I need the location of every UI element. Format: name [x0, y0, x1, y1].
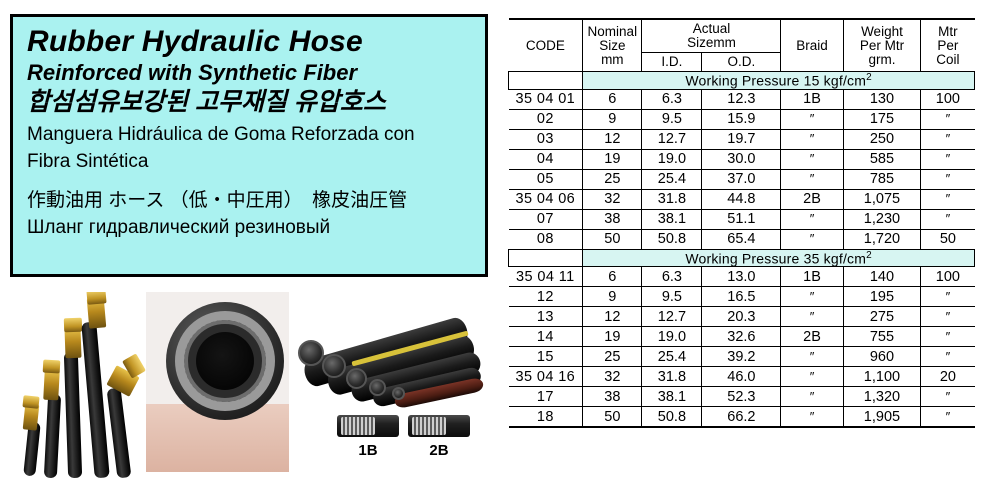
cell-inner-diameter: 12.7 [642, 129, 702, 149]
table-row: 35 04 0166.312.31B130100 [509, 89, 975, 109]
header-nominal-size: Nominal Size mm [583, 19, 642, 72]
cell-inner-diameter: 9.5 [642, 287, 702, 307]
table-row: 073838.151.1″1,230″ [509, 209, 975, 229]
cell-outer-diameter: 37.0 [702, 169, 781, 189]
table-row: 185050.866.2″1,905″ [509, 407, 975, 428]
cell-braid: ″ [781, 367, 843, 387]
cell-code: 12 [509, 287, 583, 307]
cell-mtr-per-coil: ″ [921, 109, 975, 129]
cell-inner-diameter: 38.1 [642, 209, 702, 229]
header-actual-size-line2: Sizemm [687, 35, 736, 50]
table-row: 152525.439.2″960″ [509, 347, 975, 367]
cell-braid: ″ [781, 149, 843, 169]
cell-nominal-size: 50 [583, 407, 642, 428]
cell-braid: 2B [781, 327, 843, 347]
photo-hose-ends [296, 290, 486, 408]
cell-braid: ″ [781, 287, 843, 307]
cell-nominal-size: 38 [583, 209, 642, 229]
header-braid: Braid [781, 19, 843, 72]
header-actual-size: Actual Sizemm [642, 19, 781, 53]
cell-inner-diameter: 6.3 [642, 89, 702, 109]
cell-nominal-size: 6 [583, 267, 642, 287]
title-spanish-line-2: Fibra Sintética [27, 148, 485, 175]
cell-outer-diameter: 65.4 [702, 229, 781, 249]
cell-braid: ″ [781, 347, 843, 367]
cell-code: 14 [509, 327, 583, 347]
header-actual-size-line1: Actual [693, 21, 731, 36]
cell-outer-diameter: 13.0 [702, 267, 781, 287]
banner-spacer [509, 249, 583, 267]
header-inner-diameter: I.D. [642, 53, 702, 72]
cell-mtr-per-coil: ″ [921, 327, 975, 347]
cell-inner-diameter: 25.4 [642, 169, 702, 189]
cell-mtr-per-coil: ″ [921, 129, 975, 149]
table-row: 0299.515.9″175″ [509, 109, 975, 129]
braid-sample-1b [337, 415, 399, 437]
cell-outer-diameter: 66.2 [702, 407, 781, 428]
table-row: 173838.152.3″1,320″ [509, 387, 975, 407]
cell-braid: ″ [781, 407, 843, 428]
cell-weight: 960 [843, 347, 921, 367]
cell-code: 35 04 16 [509, 367, 583, 387]
table-row: 1299.516.5″195″ [509, 287, 975, 307]
pressure-banner-row: Working Pressure 35 kgf/cm2 [509, 249, 975, 267]
braid-sample-1b-ferrule [341, 417, 375, 435]
product-title-panel: Rubber Hydraulic Hose Reinforced with Sy… [10, 14, 488, 277]
cell-inner-diameter: 19.0 [642, 149, 702, 169]
cell-nominal-size: 9 [583, 109, 642, 129]
pressure-banner-row: Working Pressure 15 kgf/cm2 [509, 72, 975, 90]
cell-outer-diameter: 12.3 [702, 89, 781, 109]
header-nominal-size-line2: Size [599, 38, 625, 53]
cell-mtr-per-coil: ″ [921, 209, 975, 229]
table-row: 131212.720.3″275″ [509, 307, 975, 327]
table-body: Working Pressure 15 kgf/cm235 04 0166.31… [509, 72, 975, 428]
cell-mtr-per-coil: ″ [921, 189, 975, 209]
cell-mtr-per-coil: 20 [921, 367, 975, 387]
cell-inner-diameter: 25.4 [642, 347, 702, 367]
table-row: 35 04 163231.846.0″1,10020 [509, 367, 975, 387]
header-coil-line3: Coil [936, 52, 959, 67]
cell-code: 15 [509, 347, 583, 367]
cell-outer-diameter: 20.3 [702, 307, 781, 327]
cell-nominal-size: 12 [583, 307, 642, 327]
cell-outer-diameter: 30.0 [702, 149, 781, 169]
cell-outer-diameter: 32.6 [702, 327, 781, 347]
cell-inner-diameter: 50.8 [642, 229, 702, 249]
cell-code: 04 [509, 149, 583, 169]
specification-table: CODE Nominal Size mm Actual Sizemm Braid… [508, 18, 975, 428]
cell-weight: 1,320 [843, 387, 921, 407]
cell-inner-diameter: 31.8 [642, 189, 702, 209]
table-row: 141919.032.62B755″ [509, 327, 975, 347]
cell-mtr-per-coil: ″ [921, 347, 975, 367]
cell-nominal-size: 32 [583, 189, 642, 209]
cell-outer-diameter: 51.1 [702, 209, 781, 229]
braid-sample-2b [408, 415, 470, 437]
cell-weight: 1,075 [843, 189, 921, 209]
page-subtitle: Reinforced with Synthetic Fiber [27, 60, 485, 86]
cell-outer-diameter: 39.2 [702, 347, 781, 367]
cell-code: 02 [509, 109, 583, 129]
cell-weight: 1,720 [843, 229, 921, 249]
cell-braid: ″ [781, 129, 843, 149]
table-row: 031212.719.7″250″ [509, 129, 975, 149]
cell-nominal-size: 38 [583, 387, 642, 407]
cell-braid: 1B [781, 267, 843, 287]
header-outer-diameter: O.D. [702, 53, 781, 72]
cell-braid: 1B [781, 89, 843, 109]
cell-outer-diameter: 46.0 [702, 367, 781, 387]
cell-inner-diameter: 9.5 [642, 109, 702, 129]
header-nominal-size-line1: Nominal [588, 24, 638, 39]
cell-braid: ″ [781, 387, 843, 407]
photo-hose-cross-section [146, 292, 289, 472]
pressure-banner-label: Working Pressure 35 kgf/cm2 [583, 249, 975, 267]
cell-mtr-per-coil: ″ [921, 149, 975, 169]
cell-weight: 755 [843, 327, 921, 347]
cell-mtr-per-coil: 100 [921, 89, 975, 109]
cell-code: 35 04 01 [509, 89, 583, 109]
cell-inner-diameter: 6.3 [642, 267, 702, 287]
braid-sample-1b-label: 1B [346, 442, 390, 459]
cell-outer-diameter: 15.9 [702, 109, 781, 129]
cell-braid: ″ [781, 307, 843, 327]
header-weight: Weight Per Mtr grm. [843, 19, 921, 72]
cell-nominal-size: 25 [583, 169, 642, 189]
cell-weight: 585 [843, 149, 921, 169]
cell-mtr-per-coil: 50 [921, 229, 975, 249]
header-coil-line2: Per [937, 38, 958, 53]
cell-nominal-size: 19 [583, 327, 642, 347]
header-code: CODE [509, 19, 583, 72]
cell-mtr-per-coil: ″ [921, 169, 975, 189]
cell-outer-diameter: 16.5 [702, 287, 781, 307]
cell-nominal-size: 12 [583, 129, 642, 149]
cell-mtr-per-coil: ″ [921, 287, 975, 307]
cell-weight: 175 [843, 109, 921, 129]
cell-braid: 2B [781, 189, 843, 209]
cell-weight: 195 [843, 287, 921, 307]
cell-mtr-per-coil: ″ [921, 307, 975, 327]
table-row: 052525.437.0″785″ [509, 169, 975, 189]
title-spanish-line-1: Manguera Hidráulica de Goma Reforzada co… [27, 121, 485, 148]
header-weight-line3: grm. [868, 52, 895, 67]
cell-inner-diameter: 12.7 [642, 307, 702, 327]
cell-nominal-size: 25 [583, 347, 642, 367]
cell-weight: 130 [843, 89, 921, 109]
cell-outer-diameter: 44.8 [702, 189, 781, 209]
cell-weight: 1,230 [843, 209, 921, 229]
cell-code: 35 04 06 [509, 189, 583, 209]
banner-spacer [509, 72, 583, 90]
pressure-banner-label: Working Pressure 15 kgf/cm2 [583, 72, 975, 90]
cell-code: 05 [509, 169, 583, 189]
braid-sample-2b-ferrule [412, 417, 446, 435]
cell-weight: 1,100 [843, 367, 921, 387]
header-weight-line1: Weight [861, 24, 903, 39]
table-row: 35 04 063231.844.82B1,075″ [509, 189, 975, 209]
header-weight-line2: Per Mtr [860, 38, 904, 53]
cell-inner-diameter: 50.8 [642, 407, 702, 428]
cell-braid: ″ [781, 209, 843, 229]
cell-weight: 785 [843, 169, 921, 189]
cell-nominal-size: 6 [583, 89, 642, 109]
cell-braid: ″ [781, 109, 843, 129]
title-korean: 합섬섬유보강된 고무재질 유압호스 [27, 87, 485, 117]
table-row: 085050.865.4″1,72050 [509, 229, 975, 249]
photo-hose-assemblies [8, 292, 146, 478]
cell-braid: ″ [781, 169, 843, 189]
cell-inner-diameter: 38.1 [642, 387, 702, 407]
header-coil-line1: Mtr [938, 24, 958, 39]
cell-nominal-size: 50 [583, 229, 642, 249]
page-title: Rubber Hydraulic Hose [27, 25, 485, 59]
cell-weight: 140 [843, 267, 921, 287]
hose-bore [196, 332, 254, 390]
cell-weight: 250 [843, 129, 921, 149]
cell-nominal-size: 32 [583, 367, 642, 387]
cell-code: 18 [509, 407, 583, 428]
cell-mtr-per-coil: ″ [921, 387, 975, 407]
title-russian: Шланг гидравлический резиновый [27, 215, 485, 241]
header-row-top: CODE Nominal Size mm Actual Sizemm Braid… [509, 19, 975, 53]
cell-code: 07 [509, 209, 583, 229]
cell-inner-diameter: 31.8 [642, 367, 702, 387]
table-row: 041919.030.0″585″ [509, 149, 975, 169]
header-mtr-per-coil: Mtr Per Coil [921, 19, 975, 72]
cell-outer-diameter: 19.7 [702, 129, 781, 149]
cell-code: 08 [509, 229, 583, 249]
cell-weight: 1,905 [843, 407, 921, 428]
cell-code: 13 [509, 307, 583, 327]
cell-nominal-size: 9 [583, 287, 642, 307]
cell-code: 17 [509, 387, 583, 407]
cell-weight: 275 [843, 307, 921, 327]
cell-mtr-per-coil: ″ [921, 407, 975, 428]
cell-nominal-size: 19 [583, 149, 642, 169]
cell-braid: ″ [781, 229, 843, 249]
cell-outer-diameter: 52.3 [702, 387, 781, 407]
table-row: 35 04 1166.313.01B140100 [509, 267, 975, 287]
cell-mtr-per-coil: 100 [921, 267, 975, 287]
braid-sample-2b-label: 2B [417, 442, 461, 459]
cell-code: 03 [509, 129, 583, 149]
cell-inner-diameter: 19.0 [642, 327, 702, 347]
cell-code: 35 04 11 [509, 267, 583, 287]
header-nominal-size-line3: mm [601, 52, 624, 67]
title-japanese: 作動油用 ホース （低・中圧用） 橡皮油圧管 [27, 188, 485, 214]
table-header: CODE Nominal Size mm Actual Sizemm Braid… [509, 19, 975, 72]
